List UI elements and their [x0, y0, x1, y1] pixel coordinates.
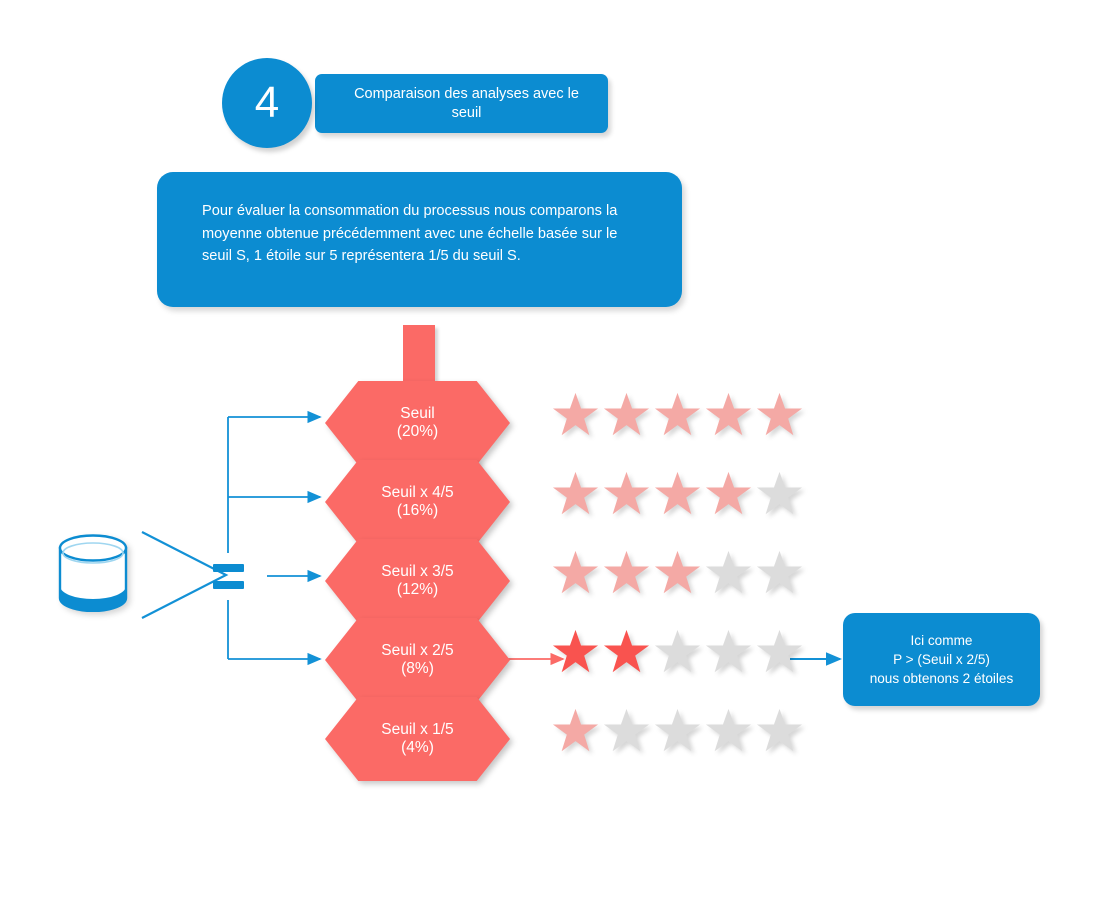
star-icon [654, 550, 701, 596]
star-icon [756, 471, 803, 517]
threshold-label: Seuil x 3/5 [381, 563, 453, 581]
step-number: 4 [255, 81, 279, 125]
star-icon [756, 392, 803, 438]
description-text: Pour évaluer la consommation du processu… [202, 200, 632, 268]
step-number-badge: 4 [222, 58, 312, 148]
threshold-percent: (12%) [397, 581, 438, 599]
step-title-text: Comparaison des analyses avec le seuil [315, 85, 608, 121]
threshold-hexagon-stack: Seuil (20%) Seuil x 4/5 (16%) Seuil x 3/… [325, 381, 520, 776]
threshold-label: Seuil x 1/5 [381, 721, 453, 739]
star-icon [552, 471, 599, 517]
star-icon [705, 392, 752, 438]
star-icon [603, 708, 650, 754]
star-icon [654, 708, 701, 754]
source-value: 10% [57, 585, 129, 595]
threshold-hexagon[interactable]: Seuil (20%) [325, 381, 510, 465]
diagram-canvas: 4 Comparaison des analyses avec le seuil… [0, 0, 1103, 917]
description-card: Pour évaluer la consommation du processu… [157, 172, 682, 307]
callout-line-1: Ici comme [911, 633, 973, 648]
star-icon [705, 708, 752, 754]
threshold-label: Seuil x 2/5 [381, 642, 453, 660]
equals-icon [213, 564, 244, 589]
threshold-percent: (16%) [397, 502, 438, 520]
threshold-hexagon[interactable]: Seuil x 1/5 (4%) [325, 697, 510, 781]
database-cylinder-icon: 10% [57, 534, 129, 612]
callout-line-2: P > (Seuil x 2/5) [893, 652, 990, 667]
flow-stem-top [403, 325, 435, 388]
threshold-hexagon[interactable]: Seuil x 2/5 (8%) [325, 618, 510, 702]
star-icon [603, 550, 650, 596]
star-icon [654, 392, 701, 438]
threshold-percent: (4%) [401, 739, 434, 757]
star-icon [654, 629, 701, 675]
star-icon [552, 708, 599, 754]
threshold-label: Seuil [400, 405, 434, 423]
star-rating-grid [552, 392, 810, 762]
star-row [552, 392, 810, 442]
star-icon [756, 550, 803, 596]
star-row [552, 629, 810, 679]
step-title-banner: Comparaison des analyses avec le seuil [315, 74, 608, 133]
star-row [552, 550, 810, 600]
star-icon [756, 708, 803, 754]
star-icon [705, 629, 752, 675]
star-icon [603, 629, 650, 675]
threshold-hexagon[interactable]: Seuil x 3/5 (12%) [325, 539, 510, 623]
star-icon [705, 471, 752, 517]
star-icon [654, 471, 701, 517]
threshold-hexagon[interactable]: Seuil x 4/5 (16%) [325, 460, 510, 544]
threshold-percent: (8%) [401, 660, 434, 678]
star-icon [756, 629, 803, 675]
threshold-label: Seuil x 4/5 [381, 484, 453, 502]
star-icon [603, 392, 650, 438]
threshold-percent: (20%) [397, 423, 438, 441]
star-row [552, 708, 810, 758]
star-row [552, 471, 810, 521]
callout-line-3: nous obtenons 2 étoiles [870, 671, 1014, 686]
star-icon [603, 471, 650, 517]
star-icon [552, 550, 599, 596]
star-icon [552, 629, 599, 675]
result-callout: Ici comme P > (Seuil x 2/5) nous obtenon… [843, 613, 1040, 706]
star-icon [705, 550, 752, 596]
star-icon [552, 392, 599, 438]
